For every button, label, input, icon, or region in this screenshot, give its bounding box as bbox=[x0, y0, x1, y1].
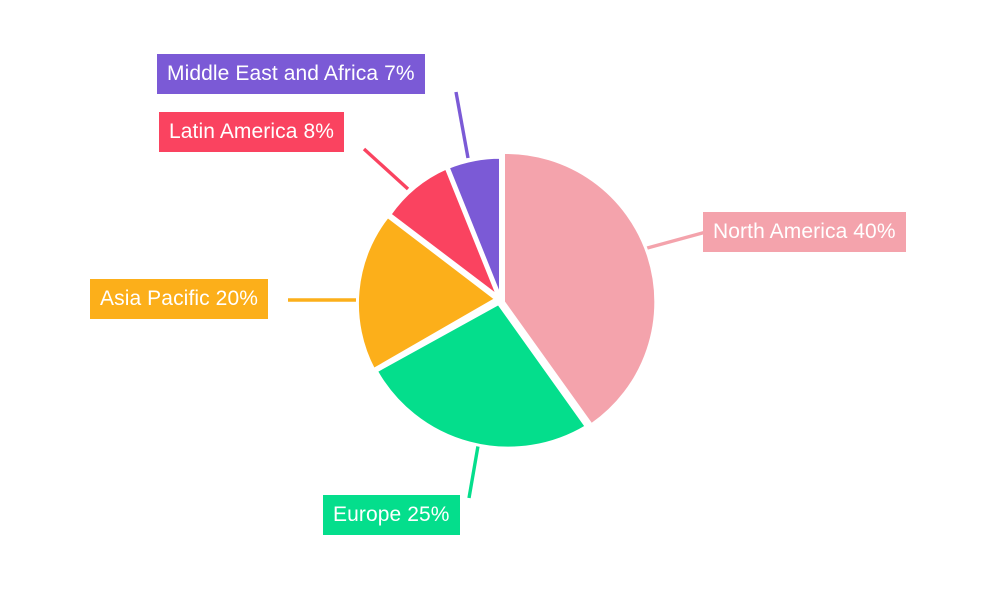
pie-label-europe: Europe 25% bbox=[323, 495, 460, 535]
leader-line-north-america bbox=[640, 232, 706, 250]
pie-label-middle-east-and-africa: Middle East and Africa 7% bbox=[157, 54, 425, 94]
pie-chart-figure: North America 40% Europe 25% Asia Pacifi… bbox=[0, 0, 1000, 600]
pie-label-latin-america: Latin America 8% bbox=[159, 112, 344, 152]
pie-slices-group bbox=[357, 152, 655, 448]
leader-line-middle-east-and-africa bbox=[456, 92, 468, 158]
leader-line-latin-america bbox=[364, 149, 408, 189]
leader-line-europe bbox=[469, 446, 478, 498]
pie-label-north-america: North America 40% bbox=[703, 212, 906, 252]
pie-label-asia-pacific: Asia Pacific 20% bbox=[90, 279, 268, 319]
